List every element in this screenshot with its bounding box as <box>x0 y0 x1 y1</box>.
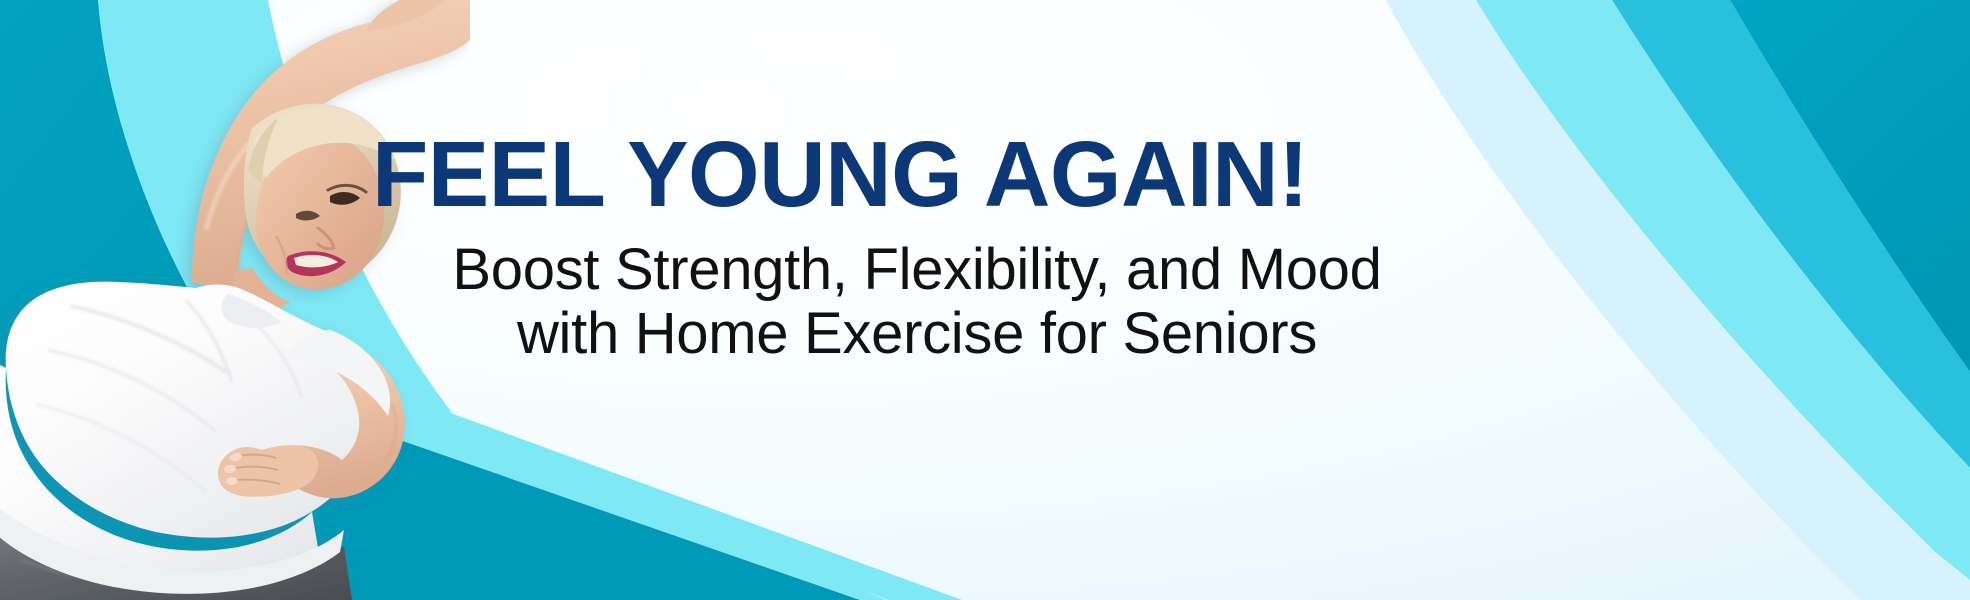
promo-banner: FEEL YOUNG AGAIN! Boost Strength, Flexib… <box>0 0 1970 600</box>
right-corner-arcs <box>1386 0 1970 600</box>
decorative-waves <box>0 0 1970 600</box>
